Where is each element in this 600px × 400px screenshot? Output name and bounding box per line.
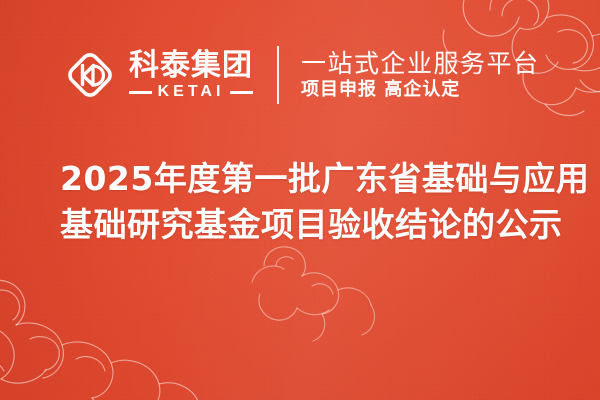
logo-rule-right-icon (230, 91, 253, 94)
logo-chinese-name: 科泰集团 (129, 50, 253, 82)
announcement-title: 2025年度第一批广东省基础与应用 基础研究基金项目验收结论的公示 (60, 156, 560, 248)
slogan-sub-text: 项目申报 高企认定 (301, 81, 540, 99)
logo-wordmark: 科泰集团 KETAI (129, 50, 253, 101)
slogan-main-text: 一站式企业服务平台 (301, 51, 540, 76)
logo-rule-left-icon (129, 91, 152, 94)
logo-english-name: KETAI (158, 84, 225, 100)
header-slogan: 一站式企业服务平台 项目申报 高企认定 (301, 51, 540, 99)
title-line-2: 基础研究基金项目验收结论的公示 (60, 202, 560, 248)
logo-english-row: KETAI (129, 84, 253, 100)
kd-diamond-logo-icon (63, 48, 117, 102)
title-line-1: 2025年度第一批广东省基础与应用 (60, 156, 560, 202)
header-divider-icon (277, 46, 279, 104)
banner-header: 科泰集团 KETAI 一站式企业服务平台 项目申报 高企认定 (63, 42, 540, 108)
announcement-banner: 科泰集团 KETAI 一站式企业服务平台 项目申报 高企认定 2025年度第一批… (0, 0, 600, 400)
company-logo: 科泰集团 KETAI (63, 48, 253, 102)
